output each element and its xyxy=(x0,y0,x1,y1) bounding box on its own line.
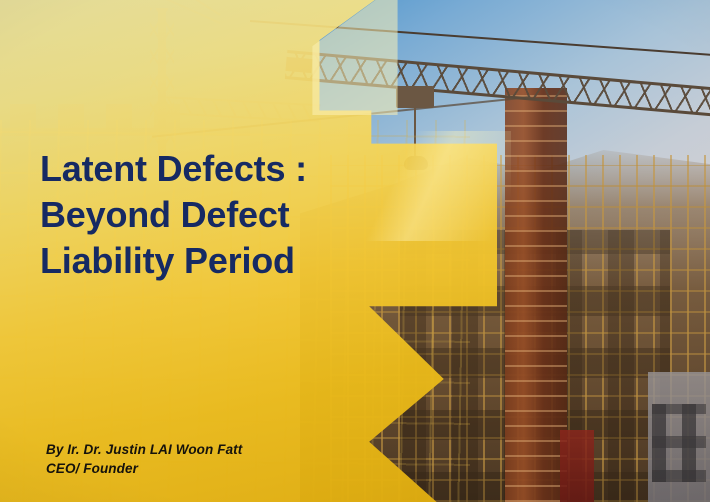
presenter-name: By Ir. Dr. Justin LAI Woon Fatt xyxy=(46,440,242,459)
presenter-byline: By Ir. Dr. Justin LAI Woon Fatt CEO/ Fou… xyxy=(46,440,242,478)
presentation-slide: Latent Defects : Beyond Defect Liability… xyxy=(0,0,710,502)
slide-title-line-3: Liability Period xyxy=(40,238,400,284)
slide-title: Latent Defects : Beyond Defect Liability… xyxy=(40,146,400,284)
slide-title-line-2: Beyond Defect xyxy=(40,192,400,238)
slide-title-line-1: Latent Defects : xyxy=(40,146,400,192)
presenter-role: CEO/ Founder xyxy=(46,459,242,478)
